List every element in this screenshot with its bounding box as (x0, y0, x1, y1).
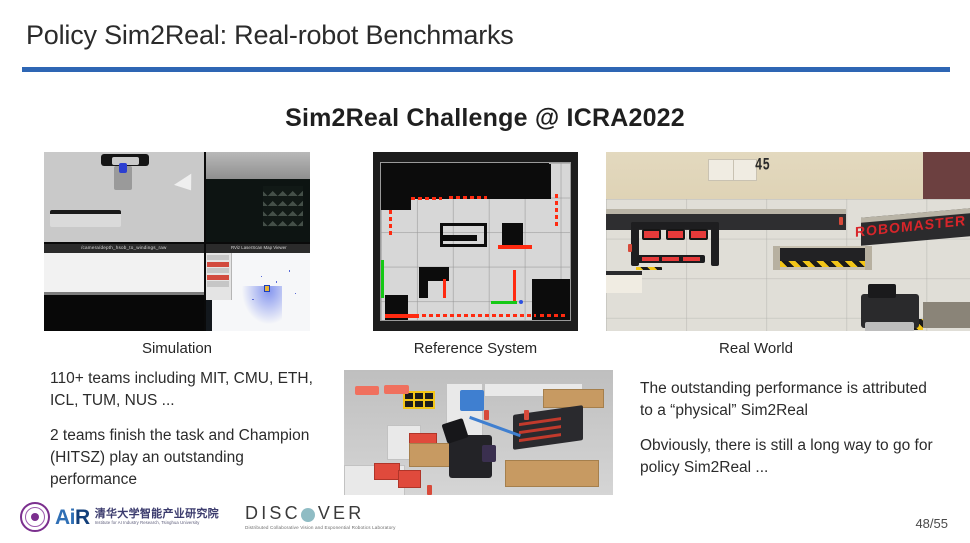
sim-scan-point (289, 270, 291, 272)
discover-tagline: Distributed Collaborative Vision and Exp… (245, 525, 396, 530)
warehouse-can (427, 485, 432, 495)
sim-robot (114, 166, 132, 189)
text-left-paragraph-1: 110+ teams including MIT, CMU, ETH, ICL,… (50, 368, 318, 412)
marker-cell (425, 401, 433, 407)
arena-launch-gate (631, 222, 718, 266)
sim-control-row (207, 268, 229, 273)
text-right-paragraph-2: Obviously, there is still a long way to … (640, 435, 940, 479)
map-obstacle (443, 235, 477, 241)
map-obstacle (419, 267, 428, 299)
gate-target (689, 229, 708, 239)
gate-top-beam (631, 222, 718, 229)
section-subtitle: Sim2Real Challenge @ ICRA2022 (0, 104, 970, 133)
map-scan-points (555, 194, 558, 226)
air-letter-a: A (55, 506, 70, 529)
map-axis-green (381, 260, 384, 298)
marker-cell (415, 393, 423, 399)
map-scan-line (498, 245, 532, 249)
warehouse-scene (344, 370, 613, 495)
barrier-hazard-stripe (780, 261, 864, 266)
map-obstacle (502, 223, 523, 245)
sim-control-row (207, 262, 229, 267)
sim-control-row (207, 255, 229, 260)
map-scan-line (443, 279, 446, 298)
warehouse-cardboard-box (505, 460, 598, 487)
map-scan-points (540, 314, 566, 317)
sim-scan-point (276, 281, 278, 283)
air-wordmark: AiR (55, 507, 90, 528)
sim-cone (174, 169, 196, 190)
warehouse-floor-marker (403, 391, 435, 409)
text-block-left: 110+ teams including MIT, CMU, ETH, ICL,… (50, 368, 318, 491)
warehouse-blue-sign (460, 390, 484, 411)
discover-o-icon (301, 508, 315, 522)
warehouse-can (524, 410, 529, 420)
logo-discover: DISCVER Distributed Collaborative Vision… (245, 504, 396, 530)
arena-center-barrier (773, 246, 871, 270)
sim-scan-point (295, 293, 297, 295)
arena-floor: ROBOMASTER (606, 199, 970, 331)
footer-logos: AiR 清华大学智能产业研究院 Institute for AI Industr… (20, 497, 396, 537)
caption-real-world: Real World (606, 340, 906, 357)
gate-base-panels (637, 255, 705, 264)
pallet-bar (519, 433, 561, 442)
sim-control-row (207, 275, 229, 280)
map-obstacle (381, 163, 411, 210)
reference-occupancy-grid (381, 163, 570, 321)
gate-base-target (642, 257, 659, 262)
warehouse-can (484, 410, 489, 420)
simulation-quad-view: /camera/depth_hsob_to_windings_raw RViz … (44, 152, 310, 331)
air-letter-r: R (75, 506, 90, 529)
sim-image-panel: /camera/depth_hsob_to_windings_raw (44, 244, 204, 332)
map-obstacle-outline (391, 164, 552, 198)
air-chinese-name: 清华大学智能产业研究院 (95, 509, 219, 521)
page-number: 48/55 (915, 516, 948, 531)
arena-can (839, 217, 843, 225)
sim-laser-panel: RViz LaserScan Map Viewer (206, 244, 310, 332)
slide-canvas: Policy Sim2Real: Real-robot Benchmarks S… (0, 0, 970, 543)
air-institute-name: 清华大学智能产业研究院 Institute for AI Industry Re… (95, 509, 219, 525)
arena-right-corner-block (923, 302, 970, 328)
air-english-name: Institute for AI Industry Research, Tsin… (95, 521, 219, 525)
sim-checkerboard (263, 186, 303, 227)
sim-scan-point (252, 299, 254, 301)
sim-image-panel-dark (44, 292, 204, 331)
map-scan-points (415, 314, 536, 317)
map-scan-points (411, 197, 441, 200)
warehouse-red-box (374, 463, 400, 480)
sim-image-panel-title: /camera/depth_hsob_to_windings_raw (44, 244, 204, 254)
warehouse-cardboard-box (409, 443, 454, 468)
sim-laser-beam (238, 286, 283, 329)
map-frame-axis-y (513, 270, 516, 302)
map-scan-points (449, 196, 487, 199)
warehouse-tray (355, 386, 379, 395)
warehouse-red-box (398, 470, 422, 488)
gate-target (642, 229, 661, 239)
text-left-paragraph-2: 2 teams finish the task and Champion (HI… (50, 425, 318, 491)
gate-hazard-stripe (636, 267, 662, 270)
marker-cell (405, 401, 413, 407)
marker-cell (415, 401, 423, 407)
real-world-scene: 45 ROBOMASTER (606, 152, 970, 331)
text-right-paragraph-1: The outstanding performance is attribute… (640, 378, 940, 422)
tsinghua-seal-icon (20, 502, 50, 532)
caption-simulation: Simulation (44, 340, 310, 357)
sim-overhead-camera (44, 152, 204, 242)
arena-storage-boxes (708, 159, 757, 181)
map-scan-points (389, 210, 392, 238)
page-title: Policy Sim2Real: Real-robot Benchmarks (26, 20, 514, 51)
gate-base-target (683, 257, 700, 262)
gate-base-target (662, 257, 679, 262)
sim-laser-controls (206, 253, 233, 300)
warehouse-tray (384, 385, 408, 394)
sim-image-panel-body (44, 253, 204, 294)
discover-name-part1: DISC (245, 504, 301, 524)
gate-post-right (711, 222, 719, 266)
arena-left-corner-block (606, 271, 642, 292)
sim-control-row (207, 281, 229, 286)
figure-warehouse-testbed (344, 370, 613, 495)
caption-reference-system: Reference System (373, 340, 578, 357)
gate-target-panels (642, 229, 708, 239)
sim-laser-marker (265, 286, 269, 290)
figure-real-world: 45 ROBOMASTER (606, 152, 970, 331)
figure-simulation: /camera/depth_hsob_to_windings_raw RViz … (44, 152, 310, 331)
discover-name-part2: VER (318, 504, 365, 524)
marker-cell (405, 393, 413, 399)
text-block-right: The outstanding performance is attribute… (640, 378, 940, 479)
gate-target (666, 229, 685, 239)
map-frame-axis-x (491, 301, 517, 304)
discover-wordmark: DISCVER (245, 504, 396, 524)
arena-robot (861, 294, 919, 328)
reference-map (373, 152, 578, 331)
warehouse-robot (449, 435, 492, 478)
sim-laser-panel-title: RViz LaserScan Map Viewer (206, 244, 310, 254)
figure-reference-system (373, 152, 578, 331)
arena-can (628, 244, 632, 252)
sim-ceiling-strip (206, 152, 310, 179)
map-scan-line (385, 314, 419, 318)
arena-wall-numbers: 45 (755, 155, 770, 175)
map-frame-origin (519, 300, 523, 304)
sim-scan-point (261, 276, 263, 278)
title-divider (22, 67, 950, 72)
logo-air: AiR 清华大学智能产业研究院 Institute for AI Industr… (20, 502, 219, 532)
sim-bench (50, 210, 120, 227)
sim-dark-camera (206, 152, 310, 242)
marker-cell (425, 393, 433, 399)
